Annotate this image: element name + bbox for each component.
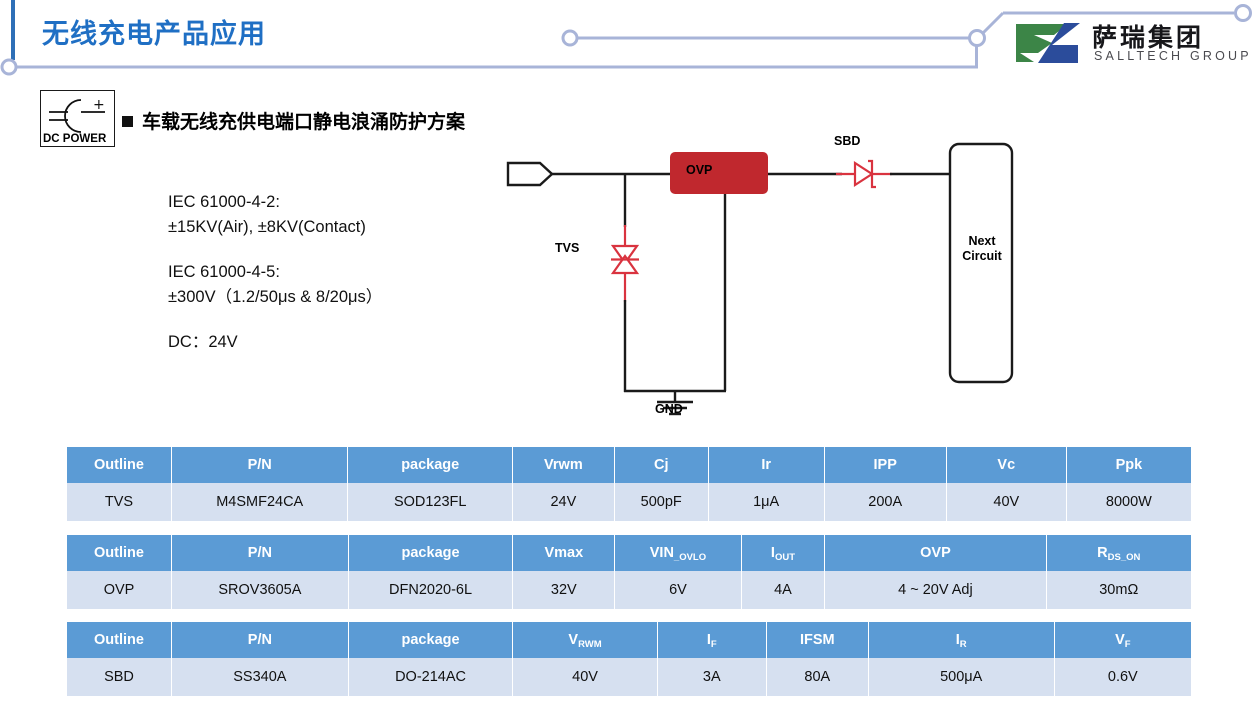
col-header: Outline xyxy=(67,535,171,571)
cell: 32V xyxy=(513,571,614,609)
table-row: OVP SROV3605A DFN2020-6L 32V 6V 4A 4 ~ 2… xyxy=(67,571,1191,609)
cell: SS340A xyxy=(172,658,348,696)
cell: 0.6V xyxy=(1055,658,1191,696)
cell: 80A xyxy=(767,658,868,696)
ovp-spec-table: Outline P/N package Vmax VIN_OVLO IOUT O… xyxy=(66,535,1192,609)
circuit-diagram: OVP TVS SBD GND Next Circuit xyxy=(480,130,1050,430)
col-header: P/N xyxy=(172,622,348,658)
sbd-label: SBD xyxy=(834,134,860,148)
gnd-label: GND xyxy=(655,402,683,416)
tvs-label: TVS xyxy=(555,241,579,255)
dc-power-label: DC POWER xyxy=(43,133,106,145)
cell: DFN2020-6L xyxy=(349,571,513,609)
col-header: Vmax xyxy=(513,535,614,571)
sbd-spec-table: Outline P/N package VRWM IF IFSM IR VF S… xyxy=(66,622,1192,696)
spec-title: IEC 61000-4-2: xyxy=(168,190,382,215)
dc-power-icon-box: + DC POWER xyxy=(40,90,115,147)
spec-title: IEC 61000-4-5: xyxy=(168,260,382,285)
hdr-sub: R xyxy=(960,639,967,650)
cell: 4 ~ 20V Adj xyxy=(825,571,1045,609)
spec-item-1: IEC 61000-4-5: ±300V（1.2/50μs & 8/20μs） xyxy=(168,260,382,310)
col-header: package xyxy=(348,447,511,483)
col-header: IPP xyxy=(825,447,946,483)
spec-list: IEC 61000-4-2: ±15KV(Air), ±8KV(Contact)… xyxy=(168,190,382,355)
col-header: Vrwm xyxy=(513,447,614,483)
col-header: Outline xyxy=(67,622,171,658)
col-header-rdson: RDS_ON xyxy=(1047,535,1191,571)
hdr-base: V xyxy=(1115,632,1125,648)
hdr-base: VIN xyxy=(650,545,674,561)
logo-name-en: SALLTECH GROUP xyxy=(1094,49,1252,63)
input-port-icon xyxy=(508,163,552,185)
cell: 500μA xyxy=(869,658,1054,696)
hdr-sub: DS_ON xyxy=(1108,552,1141,563)
hdr-sub: F xyxy=(711,639,717,650)
cell: 200A xyxy=(825,483,946,521)
cell: SROV3605A xyxy=(172,571,348,609)
cell: 4A xyxy=(742,571,825,609)
cell: M4SMF24CA xyxy=(172,483,348,521)
col-header-if: IF xyxy=(658,622,766,658)
hdr-sub: OUT xyxy=(775,552,795,563)
spec-item-2: DC：24V xyxy=(168,330,382,355)
ovp-block-label: OVP xyxy=(686,163,712,177)
col-header: Ir xyxy=(709,447,824,483)
brand-logo: 萨瑞集团 SALLTECH GROUP xyxy=(1012,18,1242,70)
section-heading: 车载无线充供电端口静电浪涌防护方案 xyxy=(142,107,465,134)
slide-root: 无线充电产品应用 萨瑞集团 SALLTECH GROUP xyxy=(0,0,1257,705)
spec-value: ±300V（1.2/50μs & 8/20μs） xyxy=(168,285,382,310)
col-header: Outline xyxy=(67,447,171,483)
next-circuit-line1: Next xyxy=(968,234,995,248)
cell: 8000W xyxy=(1067,483,1191,521)
col-header: OVP xyxy=(825,535,1045,571)
cell: DO-214AC xyxy=(349,658,513,696)
hdr-sub: _OVLO xyxy=(674,552,706,563)
cell: 1μA xyxy=(709,483,824,521)
cell: 3A xyxy=(658,658,766,696)
col-header-vin-ovlo: VIN_OVLO xyxy=(615,535,740,571)
cell: SBD xyxy=(67,658,171,696)
hdr-sub: F xyxy=(1125,639,1131,650)
col-header: P/N xyxy=(172,447,348,483)
circuit-schematic-svg xyxy=(480,130,1050,430)
cell: SOD123FL xyxy=(348,483,511,521)
table-header-row: Outline P/N package Vrwm Cj Ir IPP Vc Pp… xyxy=(67,447,1191,483)
cell: 6V xyxy=(615,571,740,609)
cell: OVP xyxy=(67,571,171,609)
hdr-base: R xyxy=(1097,545,1107,561)
table-row: SBD SS340A DO-214AC 40V 3A 80A 500μA 0.6… xyxy=(67,658,1191,696)
col-header: Cj xyxy=(615,447,708,483)
col-header: Vc xyxy=(947,447,1066,483)
svg-text:+: + xyxy=(93,97,105,113)
col-header-vrwm: VRWM xyxy=(513,622,656,658)
table-header-row: Outline P/N package Vmax VIN_OVLO IOUT O… xyxy=(67,535,1191,571)
spec-title: DC：24V xyxy=(168,330,382,355)
col-header: Ppk xyxy=(1067,447,1191,483)
hdr-sub: RWM xyxy=(578,639,602,650)
tvs-spec-table: Outline P/N package Vrwm Cj Ir IPP Vc Pp… xyxy=(66,447,1192,521)
cell: 30mΩ xyxy=(1047,571,1191,609)
cell: TVS xyxy=(67,483,171,521)
col-header-iout: IOUT xyxy=(742,535,825,571)
col-header: package xyxy=(349,622,513,658)
cell: 40V xyxy=(513,658,656,696)
hdr-base: V xyxy=(568,632,578,648)
col-header: P/N xyxy=(172,535,348,571)
cell: 40V xyxy=(947,483,1066,521)
col-header-vf: VF xyxy=(1055,622,1191,658)
table-header-row: Outline P/N package VRWM IF IFSM IR VF xyxy=(67,622,1191,658)
cell: 24V xyxy=(513,483,614,521)
ovp-block xyxy=(670,152,768,194)
next-circuit-label: Next Circuit xyxy=(947,234,1017,264)
salltech-logo-mark xyxy=(1012,20,1084,66)
spec-item-0: IEC 61000-4-2: ±15KV(Air), ±8KV(Contact) xyxy=(168,190,382,240)
cell: 500pF xyxy=(615,483,708,521)
next-circuit-line2: Circuit xyxy=(962,249,1002,263)
bullet-square-icon xyxy=(122,116,133,127)
spec-value: ±15KV(Air), ±8KV(Contact) xyxy=(168,215,382,240)
col-header: IFSM xyxy=(767,622,868,658)
table-row: TVS M4SMF24CA SOD123FL 24V 500pF 1μA 200… xyxy=(67,483,1191,521)
col-header: package xyxy=(349,535,513,571)
col-header-ir: IR xyxy=(869,622,1054,658)
